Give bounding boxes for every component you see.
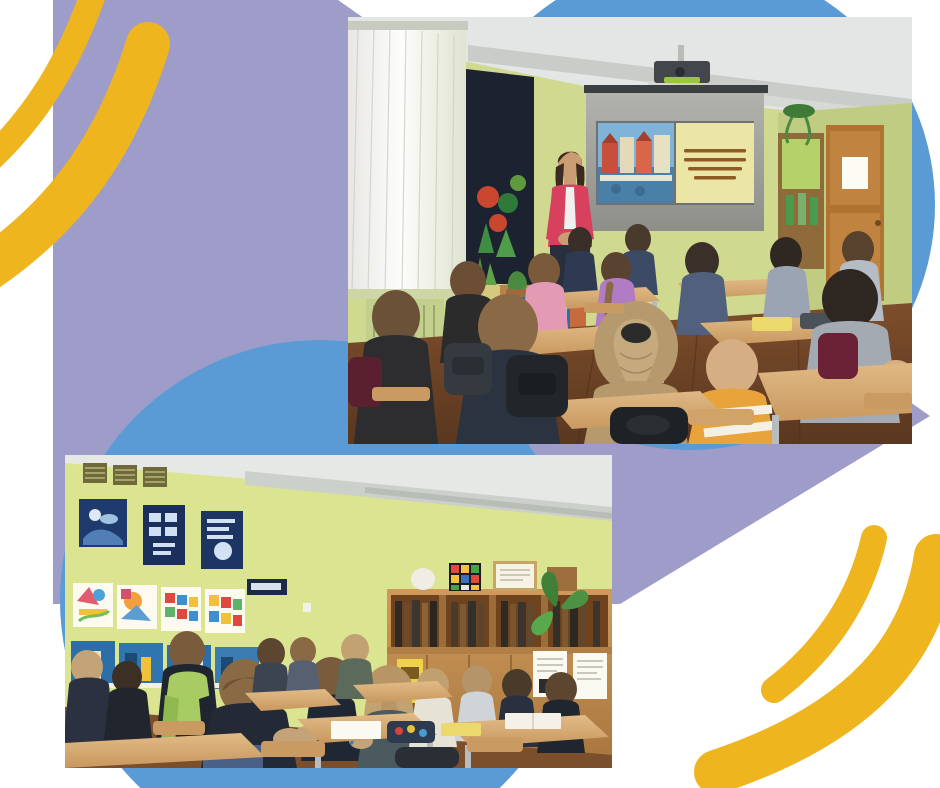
backpack-on-floor [395, 747, 459, 768]
slide-text-panel [676, 123, 754, 203]
notebook-yellow [441, 723, 481, 736]
window-blinds [348, 23, 466, 293]
collage-canvas [0, 0, 940, 788]
notebook-on-desk [752, 317, 792, 331]
slide-town-photo [598, 123, 674, 203]
worksheet-paper [331, 721, 381, 739]
swoosh-bottom-right-thick [716, 556, 936, 772]
door-sign [842, 157, 868, 189]
white-globe-ornament [411, 568, 435, 590]
classroom-presentation-photo [348, 17, 912, 444]
projected-slide [596, 121, 754, 205]
door-handle [875, 220, 881, 226]
wall-note-a [303, 603, 311, 612]
classroom-worksheet-activity-photo [65, 455, 612, 768]
screen-housing [584, 85, 768, 93]
blind-headrail [348, 21, 468, 30]
shelf-ledge [387, 647, 612, 654]
cabinet-items [786, 193, 818, 225]
